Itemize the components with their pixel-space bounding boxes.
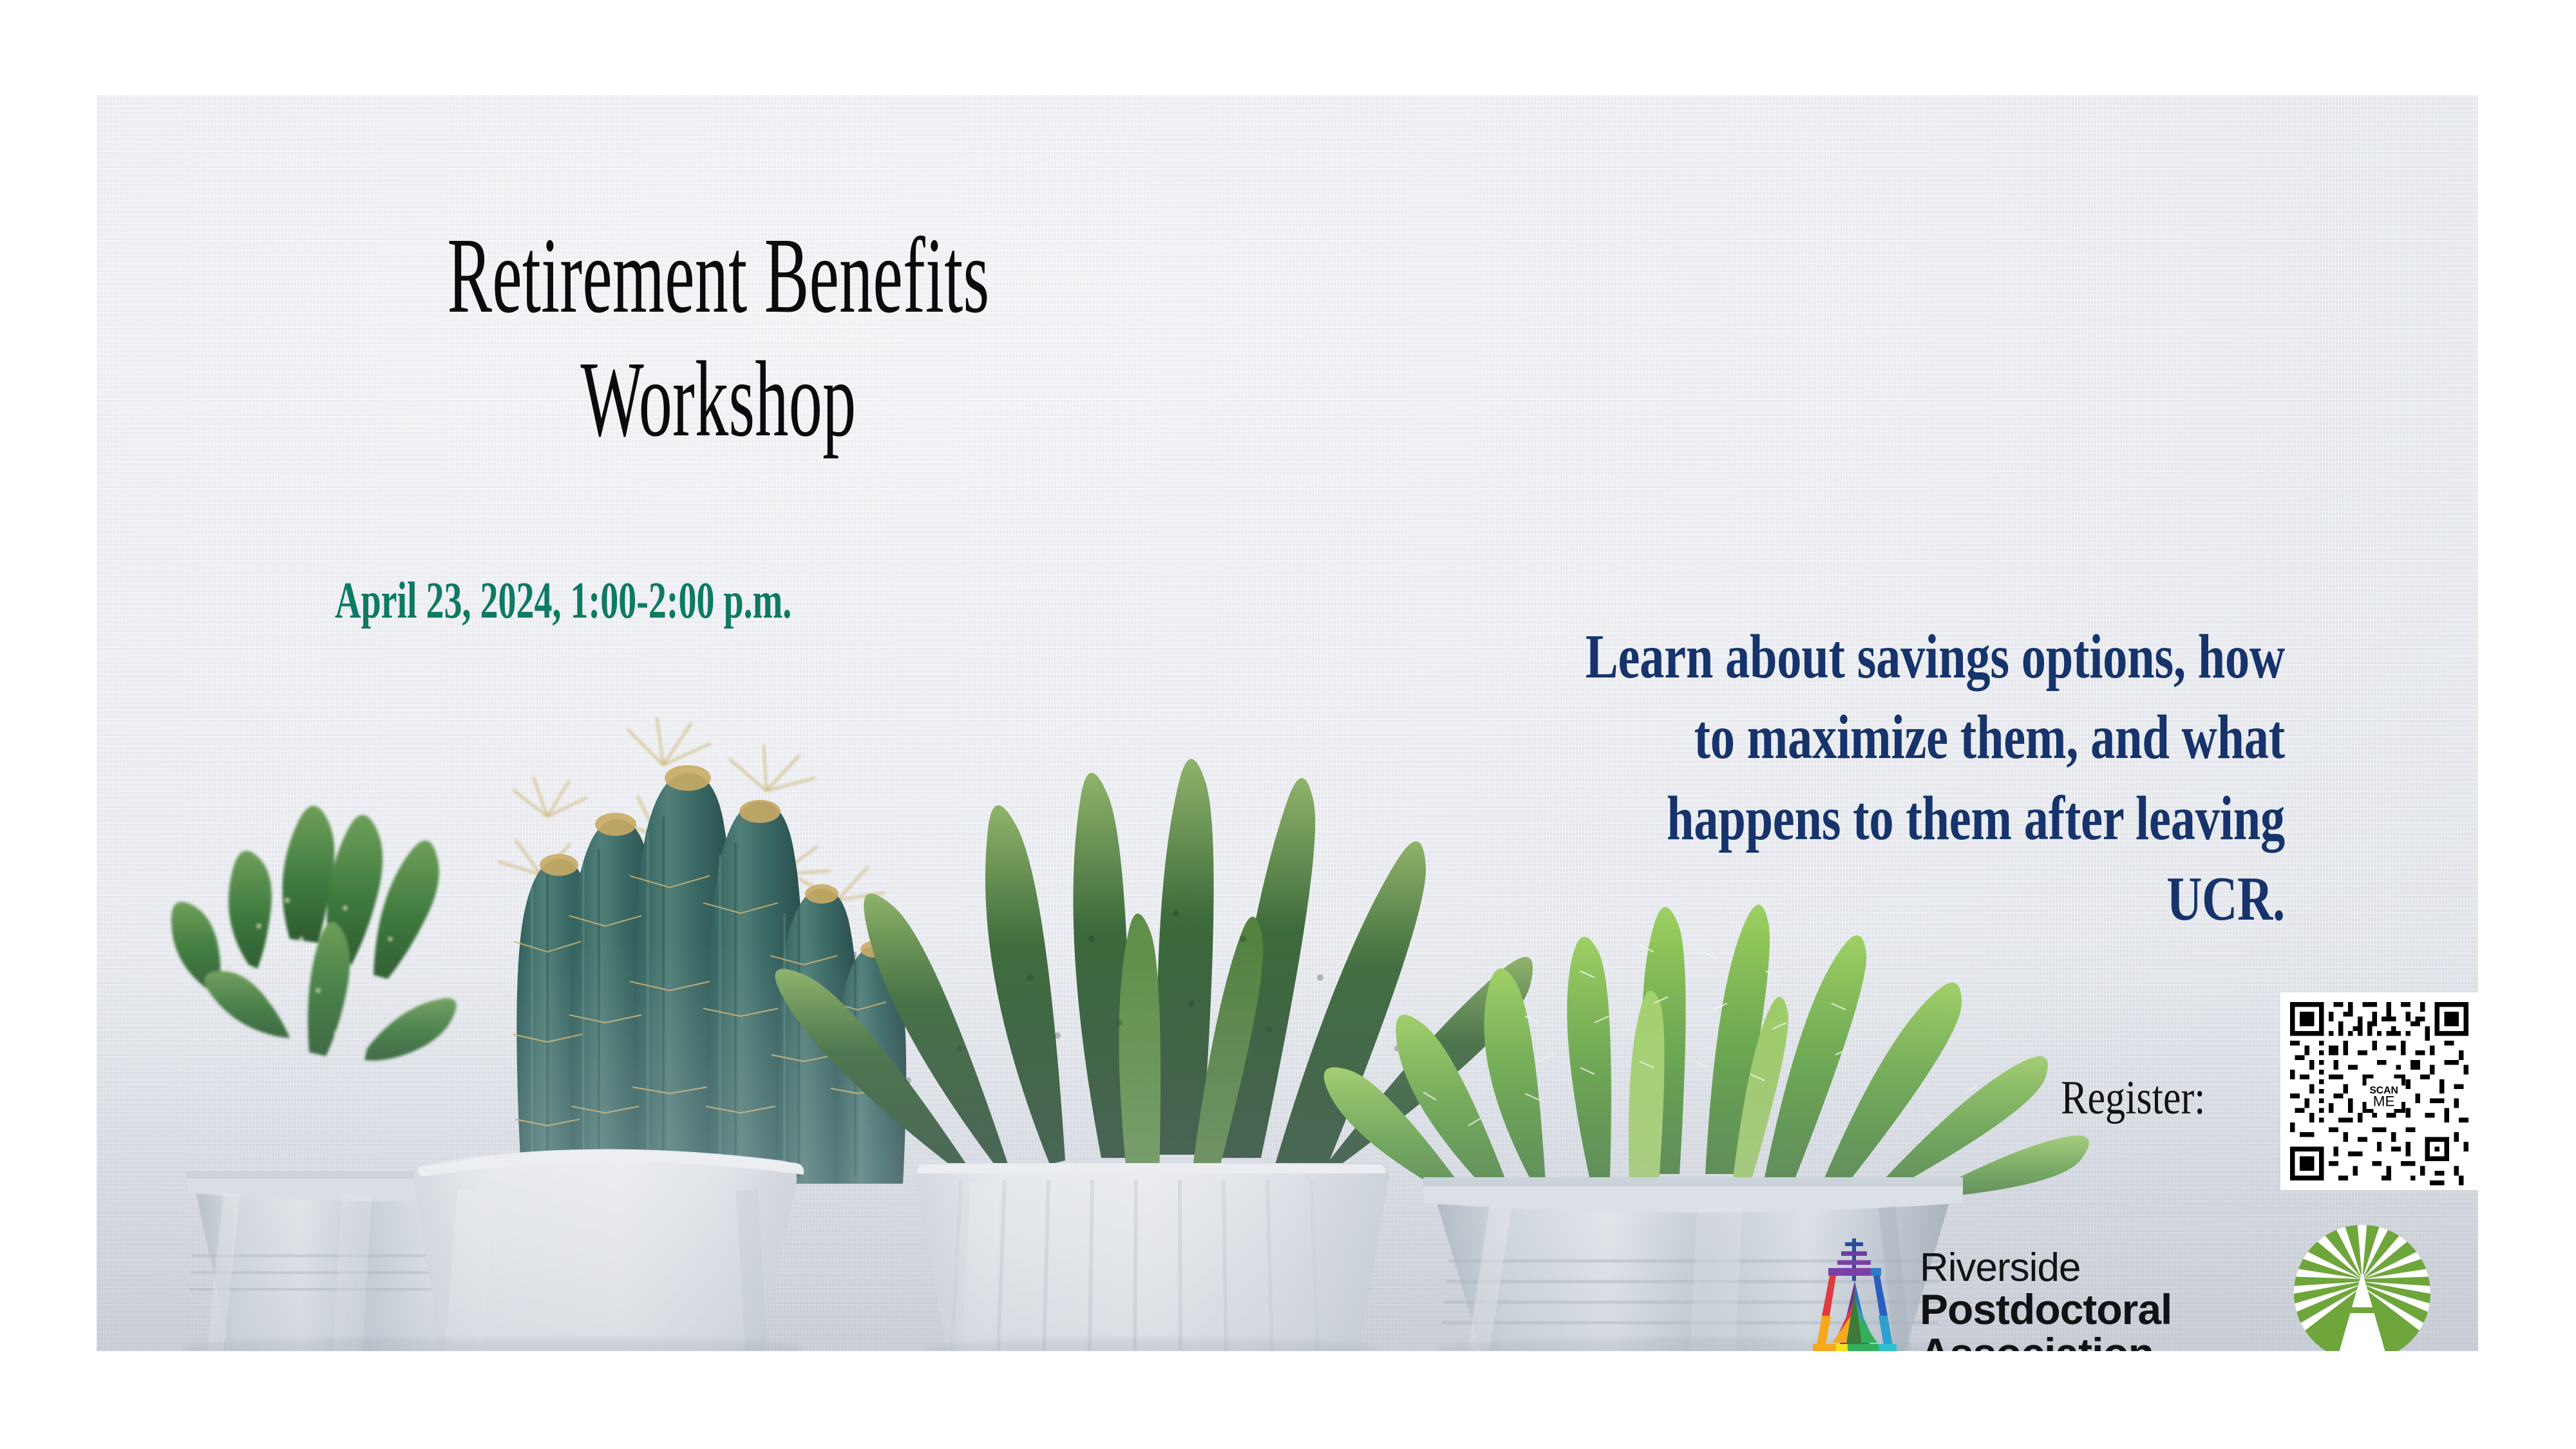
plant-finger-cactus — [1324, 904, 2089, 1198]
ucr-line-riverside: Riverside — [1920, 1247, 2172, 1288]
pot-galvanized-left — [187, 1171, 560, 1351]
qr-code[interactable]: SCAN ME — [2280, 992, 2478, 1190]
title-line-2: Workshop — [309, 338, 1128, 462]
ucr-line-association: Association — [1920, 1332, 2172, 1351]
plant-opuntia — [171, 806, 457, 1061]
pot-white-fluted — [915, 1163, 1388, 1351]
pot-white-ceramic — [413, 1149, 804, 1351]
plant-agave-rosette — [775, 759, 1533, 1177]
ucr-logo-wordmark: Riverside Postdoctoral Association — [1920, 1247, 2172, 1351]
ucr-postdoctoral-association-logo: UCR Riverside Postdoctoral Association — [1806, 1224, 2206, 1351]
page-title: Retirement Benefits Workshop — [309, 214, 1128, 461]
title-line-1: Retirement Benefits — [309, 214, 1128, 338]
plant-columnar-cacti — [498, 717, 906, 1184]
ucr-line-postdoctoral: Postdoctoral — [1920, 1288, 2172, 1331]
fidelity-wordmark: Fidelity — [2292, 1350, 2434, 1351]
ucr-belltower-icon: UCR — [1806, 1228, 1903, 1351]
event-datetime: April 23, 2024, 1:00-2:00 p.m. — [335, 575, 791, 627]
qr-me-text: ME — [2373, 1093, 2395, 1109]
flyer-canvas: Retirement Benefits Workshop April 23, 2… — [97, 95, 2478, 1351]
poster-page: Retirement Benefits Workshop April 23, 2… — [0, 0, 2576, 1449]
event-description: Learn about savings options, how to maxi… — [1582, 617, 2285, 940]
register-label: Register: — [2061, 1074, 2205, 1122]
fidelity-investments-logo: Fidelity ® INVESTMENTS — [2268, 1217, 2456, 1351]
